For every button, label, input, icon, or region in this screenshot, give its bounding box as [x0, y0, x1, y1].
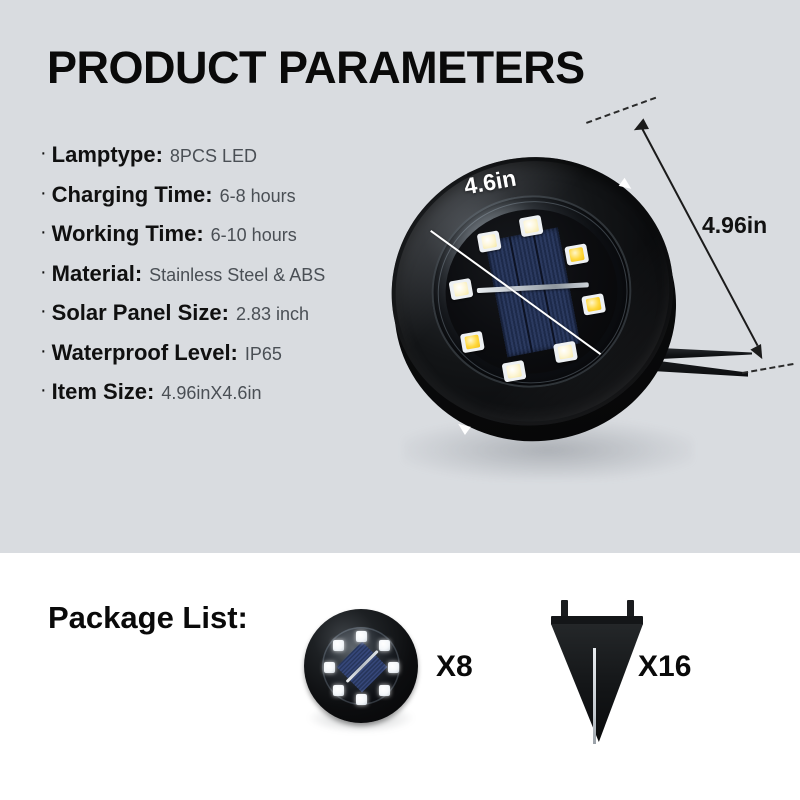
stake-triangle-body [551, 624, 643, 742]
spec-value: 8PCS LED [170, 146, 257, 167]
spec-label: Lamptype: [52, 142, 163, 168]
bullet-icon: · [40, 183, 47, 203]
spec-label: Waterproof Level: [52, 340, 238, 366]
package-qty-solar-light: X8 [436, 650, 473, 684]
bullet-icon: · [40, 301, 47, 321]
bullet-icon: · [40, 143, 47, 163]
bullet-icon: · [40, 341, 47, 361]
spec-value: IP65 [245, 344, 282, 365]
led-chip [460, 331, 485, 354]
spec-row-waterproof-level: · Waterproof Level: IP65 [40, 340, 420, 366]
led-chip [553, 341, 578, 364]
light-disc: 4.6in [359, 111, 712, 488]
led-chip [356, 631, 367, 642]
spec-value: Stainless Steel & ABS [149, 265, 325, 286]
led-chip [388, 662, 399, 673]
led-chip [324, 662, 335, 673]
package-qty-ground-stake: X16 [638, 650, 691, 684]
led-chip [581, 293, 606, 316]
led-chip [333, 640, 344, 651]
page-title: PRODUCT PARAMETERS [47, 42, 585, 94]
package-item-solar-light [300, 607, 422, 739]
spec-row-item-size: · Item Size: 4.96inX4.6in [40, 379, 420, 405]
spec-label: Item Size: [52, 379, 155, 405]
overall-dimension-label: 4.96in [702, 212, 767, 239]
spec-label: Material: [52, 261, 142, 287]
stake-top-bar [551, 616, 643, 625]
bullet-icon: · [40, 222, 47, 242]
bullet-icon: · [40, 262, 47, 282]
led-chip [564, 243, 589, 266]
spec-value: 2.83 inch [236, 304, 309, 325]
spec-row-material: · Material: Stainless Steel & ABS [40, 261, 420, 287]
spec-value: 4.96inX4.6in [161, 383, 261, 404]
stake-center-ridge [593, 648, 596, 744]
spec-value: 6-10 hours [211, 225, 297, 246]
led-chip [502, 360, 527, 383]
led-chip [449, 278, 474, 301]
led-chip [379, 640, 390, 651]
bullet-icon: · [40, 380, 47, 400]
led-chip [379, 685, 390, 696]
package-list-title: Package List: [48, 600, 248, 636]
spec-value: 6-8 hours [220, 186, 296, 207]
spec-label: Charging Time: [52, 182, 213, 208]
product-parameters-page: PRODUCT PARAMETERS · Lamptype: 8PCS LED … [0, 0, 800, 800]
spec-label: Solar Panel Size: [52, 300, 229, 326]
led-chip [477, 230, 502, 253]
spec-row-solar-panel-size: · Solar Panel Size: 2.83 inch [40, 300, 420, 326]
led-chip [356, 694, 367, 705]
parameters-panel: PRODUCT PARAMETERS · Lamptype: 8PCS LED … [0, 0, 800, 553]
led-chip [519, 215, 544, 238]
spec-label: Working Time: [52, 221, 204, 247]
spec-row-working-time: · Working Time: 6-10 hours [40, 221, 420, 247]
led-chip [333, 685, 344, 696]
package-item-ground-stake [543, 600, 653, 748]
